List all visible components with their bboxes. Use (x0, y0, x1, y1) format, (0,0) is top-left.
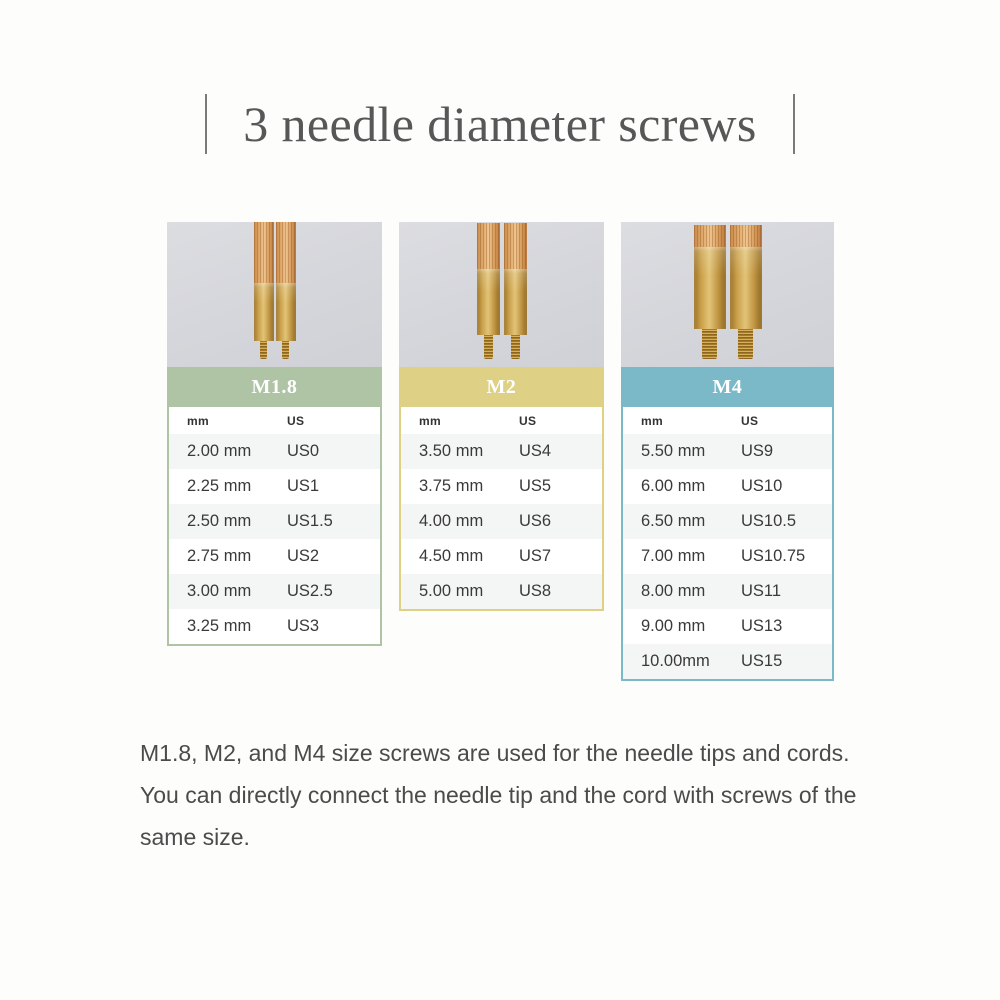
cell-us: US15 (741, 652, 832, 671)
needle-brass-ferrule (694, 247, 726, 329)
needle-brass-ferrule (477, 269, 500, 335)
size-card-m2: M2 mm US 3.50 mm US4 3.75 mm US5 4.00 mm… (399, 222, 604, 611)
table-header-m4: M4 (621, 367, 834, 407)
needle-screw-thread (511, 335, 520, 359)
needle-tip-left-icon (254, 222, 274, 359)
table-row: 7.00 mm US10.75 (623, 539, 832, 574)
cell-mm: 3.00 mm (187, 582, 287, 601)
needle-tip-right-icon (276, 222, 296, 359)
needle-screw-thread (484, 335, 493, 359)
table-row: 10.00mm US15 (623, 644, 832, 679)
column-header-mm: mm (419, 414, 519, 428)
cell-us: US6 (519, 512, 602, 531)
needle-wood-shaft (504, 223, 527, 269)
table-row: 5.50 mm US9 (623, 434, 832, 469)
cell-mm: 4.50 mm (419, 547, 519, 566)
column-header-mm: mm (187, 414, 287, 428)
table-row: 2.50 mm US1.5 (169, 504, 380, 539)
cell-us: US1 (287, 477, 380, 496)
size-table-m4: mm US 5.50 mm US9 6.00 mm US10 6.50 mm U… (621, 407, 834, 681)
table-column-headers: mm US (401, 407, 602, 434)
cell-mm: 2.25 mm (187, 477, 287, 496)
table-row: 4.00 mm US6 (401, 504, 602, 539)
cell-mm: 6.50 mm (641, 512, 741, 531)
cell-us: US3 (287, 617, 380, 636)
size-card-m4: M4 mm US 5.50 mm US9 6.00 mm US10 6.50 m… (621, 222, 834, 681)
cell-mm: 3.25 mm (187, 617, 287, 636)
needle-tip-left-icon (694, 225, 726, 359)
product-photo-m1-8 (167, 222, 382, 367)
table-row: 2.25 mm US1 (169, 469, 380, 504)
needle-tip-right-icon (504, 223, 527, 359)
table-row: 4.50 mm US7 (401, 539, 602, 574)
cell-us: US13 (741, 617, 832, 636)
cell-mm: 6.00 mm (641, 477, 741, 496)
cell-us: US7 (519, 547, 602, 566)
cell-us: US1.5 (287, 512, 380, 531)
page-title: 3 needle diameter screws (207, 99, 793, 149)
cell-mm: 7.00 mm (641, 547, 741, 566)
size-table-m1-8: mm US 2.00 mm US0 2.25 mm US1 2.50 mm US… (167, 407, 382, 646)
table-row: 5.00 mm US8 (401, 574, 602, 609)
table-row: 2.00 mm US0 (169, 434, 380, 469)
table-row: 6.50 mm US10.5 (623, 504, 832, 539)
cell-mm: 10.00mm (641, 652, 741, 671)
cell-us: US2 (287, 547, 380, 566)
table-row: 3.75 mm US5 (401, 469, 602, 504)
needle-screw-thread (260, 341, 267, 359)
cell-mm: 2.00 mm (187, 442, 287, 461)
needle-brass-ferrule (730, 247, 762, 329)
needle-screw-thread (738, 329, 753, 359)
cell-us: US8 (519, 582, 602, 601)
column-header-us: US (519, 414, 602, 428)
table-row: 3.00 mm US2.5 (169, 574, 380, 609)
needle-wood-shaft (477, 223, 500, 269)
column-header-us: US (741, 414, 832, 428)
table-column-headers: mm US (169, 407, 380, 434)
table-column-headers: mm US (623, 407, 832, 434)
needle-wood-shaft (276, 222, 296, 283)
cell-us: US9 (741, 442, 832, 461)
cell-us: US4 (519, 442, 602, 461)
cell-us: US2.5 (287, 582, 380, 601)
needle-screw-thread (702, 329, 717, 359)
needle-wood-shaft (730, 225, 762, 247)
table-row: 6.00 mm US10 (623, 469, 832, 504)
cell-mm: 5.50 mm (641, 442, 741, 461)
needle-screw-thread (282, 341, 289, 359)
table-row: 9.00 mm US13 (623, 609, 832, 644)
cell-mm: 8.00 mm (641, 582, 741, 601)
cell-us: US11 (741, 582, 832, 601)
product-photo-m2 (399, 222, 604, 367)
needle-brass-ferrule (254, 283, 274, 341)
needle-brass-ferrule (504, 269, 527, 335)
needle-wood-shaft (694, 225, 726, 247)
description-paragraph: M1.8, M2, and M4 size screws are used fo… (140, 732, 875, 858)
cell-us: US0 (287, 442, 380, 461)
cell-us: US5 (519, 477, 602, 496)
title-divider-right (793, 94, 795, 154)
needle-tip-left-icon (477, 223, 500, 359)
cell-mm: 3.75 mm (419, 477, 519, 496)
table-row: 3.50 mm US4 (401, 434, 602, 469)
cell-us: US10 (741, 477, 832, 496)
page-title-row: 3 needle diameter screws (0, 88, 1000, 160)
size-card-m1-8: M1.8 mm US 2.00 mm US0 2.25 mm US1 2.50 … (167, 222, 382, 646)
needle-brass-ferrule (276, 283, 296, 341)
table-row: 8.00 mm US11 (623, 574, 832, 609)
cell-mm: 5.00 mm (419, 582, 519, 601)
column-header-us: US (287, 414, 380, 428)
size-card-list: M1.8 mm US 2.00 mm US0 2.25 mm US1 2.50 … (167, 222, 834, 681)
cell-mm: 9.00 mm (641, 617, 741, 636)
needle-wood-shaft (254, 222, 274, 283)
cell-mm: 3.50 mm (419, 442, 519, 461)
cell-mm: 2.75 mm (187, 547, 287, 566)
cell-us: US10.5 (741, 512, 832, 531)
table-row: 3.25 mm US3 (169, 609, 380, 644)
size-table-m2: mm US 3.50 mm US4 3.75 mm US5 4.00 mm US… (399, 407, 604, 611)
needle-tip-right-icon (730, 225, 762, 359)
column-header-mm: mm (641, 414, 741, 428)
cell-mm: 2.50 mm (187, 512, 287, 531)
table-header-m2: M2 (399, 367, 604, 407)
product-photo-m4 (621, 222, 834, 367)
cell-mm: 4.00 mm (419, 512, 519, 531)
table-header-m1-8: M1.8 (167, 367, 382, 407)
table-row: 2.75 mm US2 (169, 539, 380, 574)
cell-us: US10.75 (741, 547, 832, 566)
